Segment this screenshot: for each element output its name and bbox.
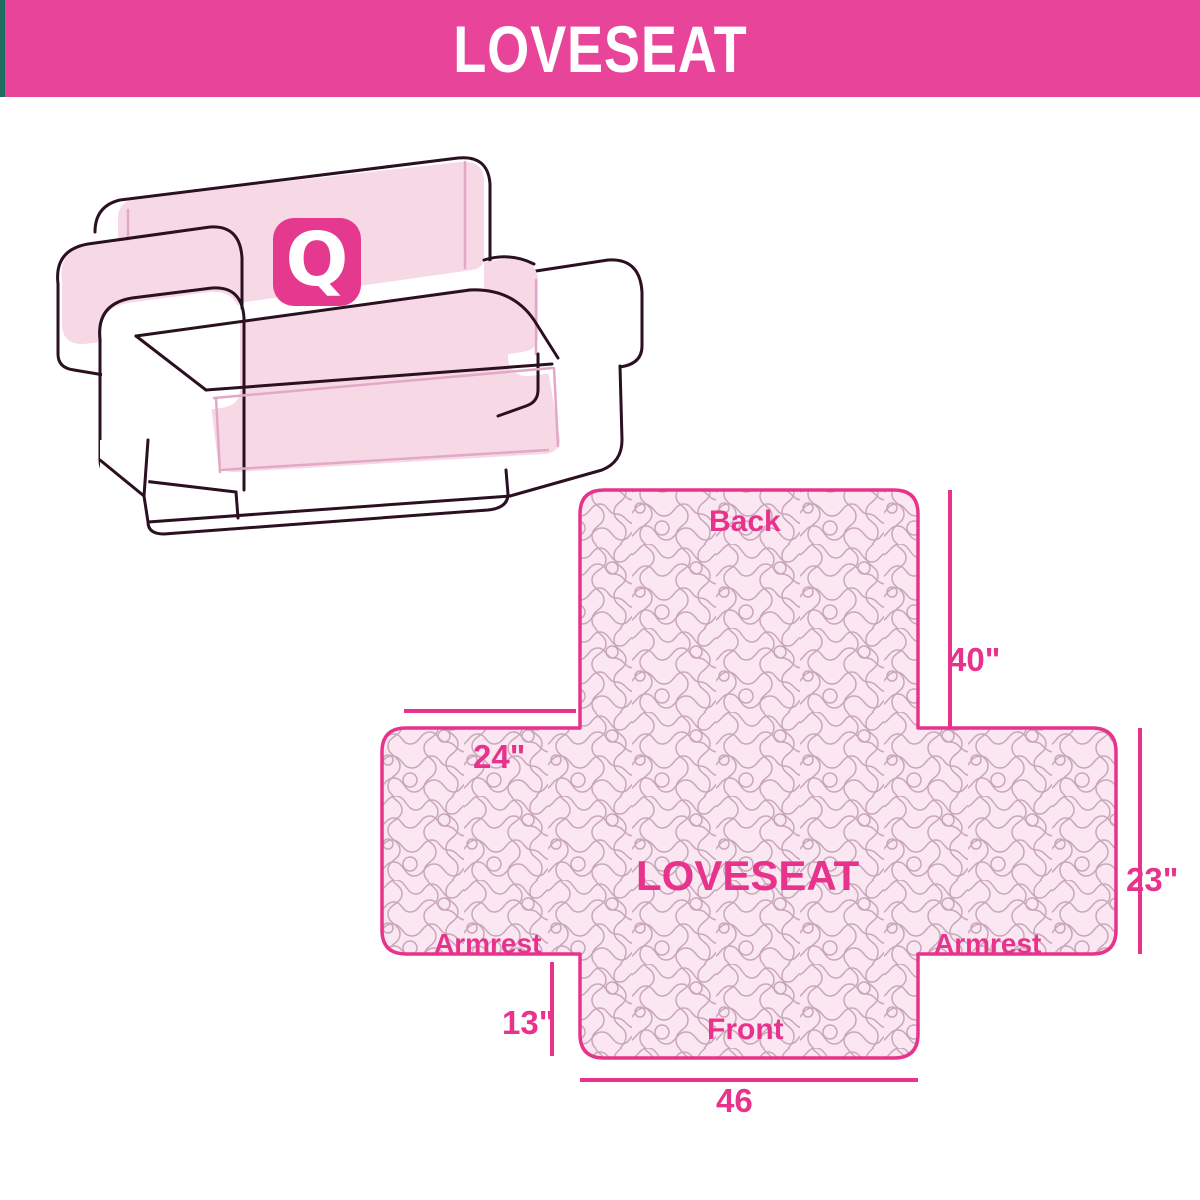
- dimension-label-center-height: 23": [1126, 861, 1178, 899]
- dimension-label-armrest-width: 24": [473, 738, 525, 776]
- panel-label-front: Front: [707, 1013, 784, 1047]
- panel-label-armrest-right: Armrest: [934, 928, 1041, 960]
- dimension-label-back-height: 40": [948, 641, 1000, 679]
- page-header: LOVESEAT: [0, 0, 1200, 97]
- dimension-label-total-width: 46: [716, 1082, 753, 1120]
- panel-label-back: Back: [709, 505, 781, 539]
- brand-logo-badge: Q: [273, 218, 361, 306]
- panel-label-armrest-left: Armrest: [434, 928, 541, 960]
- brand-logo-letter: Q: [286, 223, 349, 297]
- dimension-label-front-height: 13": [502, 1004, 554, 1042]
- panel-label-center: LOVESEAT: [636, 852, 859, 900]
- page-title: LOVESEAT: [453, 16, 747, 82]
- product-dimension-sheet: LOVESEAT: [0, 0, 1200, 1200]
- header-accent-edge: [0, 0, 5, 97]
- flat-pattern-diagram: [380, 460, 1200, 1150]
